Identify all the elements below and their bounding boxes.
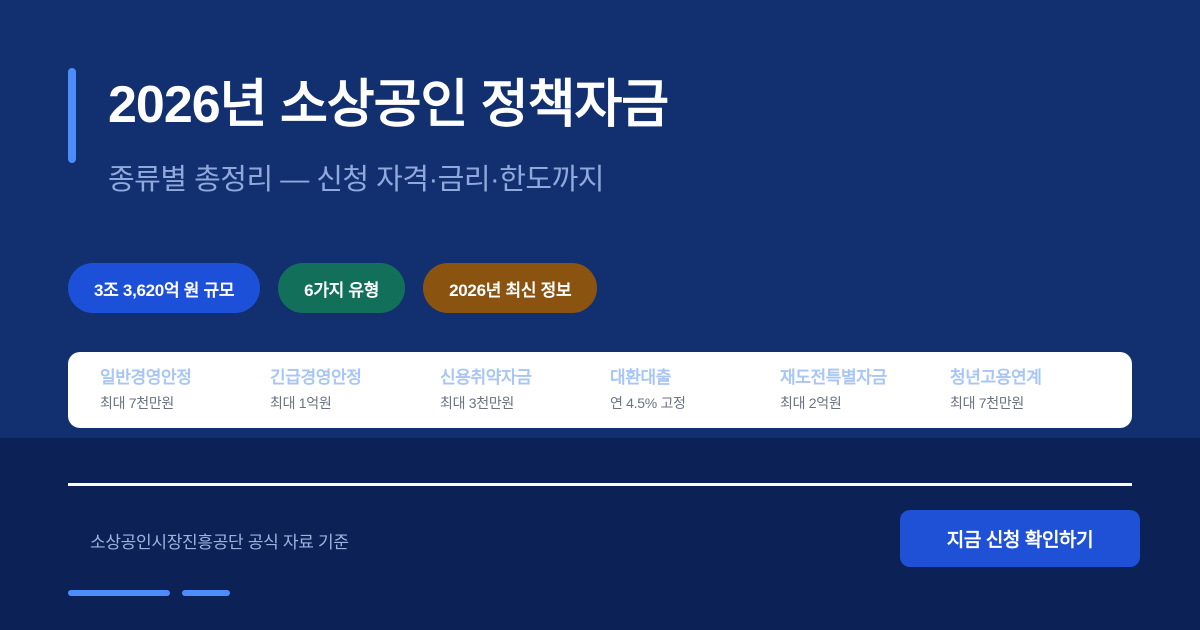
fund-detail: 최대 2억원 [780,395,940,412]
badge-types[interactable]: 6가지 유형 [278,263,405,313]
fund-item[interactable]: 긴급경영안정 최대 1억원 [260,368,430,412]
decor-dash-long [68,590,170,596]
fund-name: 청년고용연계 [950,368,1110,388]
page-subtitle: 종류별 총정리 — 신청 자격·금리·한도까지 [108,156,604,198]
fund-detail: 최대 3천만원 [440,395,600,412]
fund-name: 대환대출 [610,368,770,388]
fund-name: 신용취약자금 [440,368,600,388]
policy-fund-banner: 2026년 소상공인 정책자금 종류별 총정리 — 신청 자격·금리·한도까지 … [0,0,1200,630]
fund-item[interactable]: 대환대출 연 4.5% 고정 [600,368,770,412]
title-accent-bar [68,68,76,163]
fund-detail: 최대 7천만원 [950,395,1110,412]
fund-detail: 연 4.5% 고정 [610,395,770,412]
badge-group: 3조 3,620억 원 규모 6가지 유형 2026년 최신 정보 [68,263,597,313]
badge-year[interactable]: 2026년 최신 정보 [423,263,597,313]
page-title: 2026년 소상공인 정책자금 [108,76,668,136]
source-note: 소상공인시장진흥공단 공식 자료 기준 [90,528,349,553]
fund-name: 긴급경영안정 [270,368,430,388]
badge-scale[interactable]: 3조 3,620억 원 규모 [68,263,260,313]
fund-item[interactable]: 재도전특별자금 최대 2억원 [770,368,940,412]
apply-cta-button[interactable]: 지금 신청 확인하기 [900,510,1140,567]
decor-dash-short [182,590,230,596]
fund-detail: 최대 7천만원 [100,395,260,412]
fund-item[interactable]: 신용취약자금 최대 3천만원 [430,368,600,412]
fund-detail: 최대 1억원 [270,395,430,412]
fund-item[interactable]: 일반경영안정 최대 7천만원 [90,368,260,412]
fund-type-card: 일반경영안정 최대 7천만원 긴급경영안정 최대 1억원 신용취약자금 최대 3… [68,352,1132,428]
fund-item[interactable]: 청년고용연계 최대 7천만원 [940,368,1110,412]
fund-name: 재도전특별자금 [780,368,940,388]
fund-name: 일반경영안정 [100,368,260,388]
footer-divider [68,483,1132,486]
